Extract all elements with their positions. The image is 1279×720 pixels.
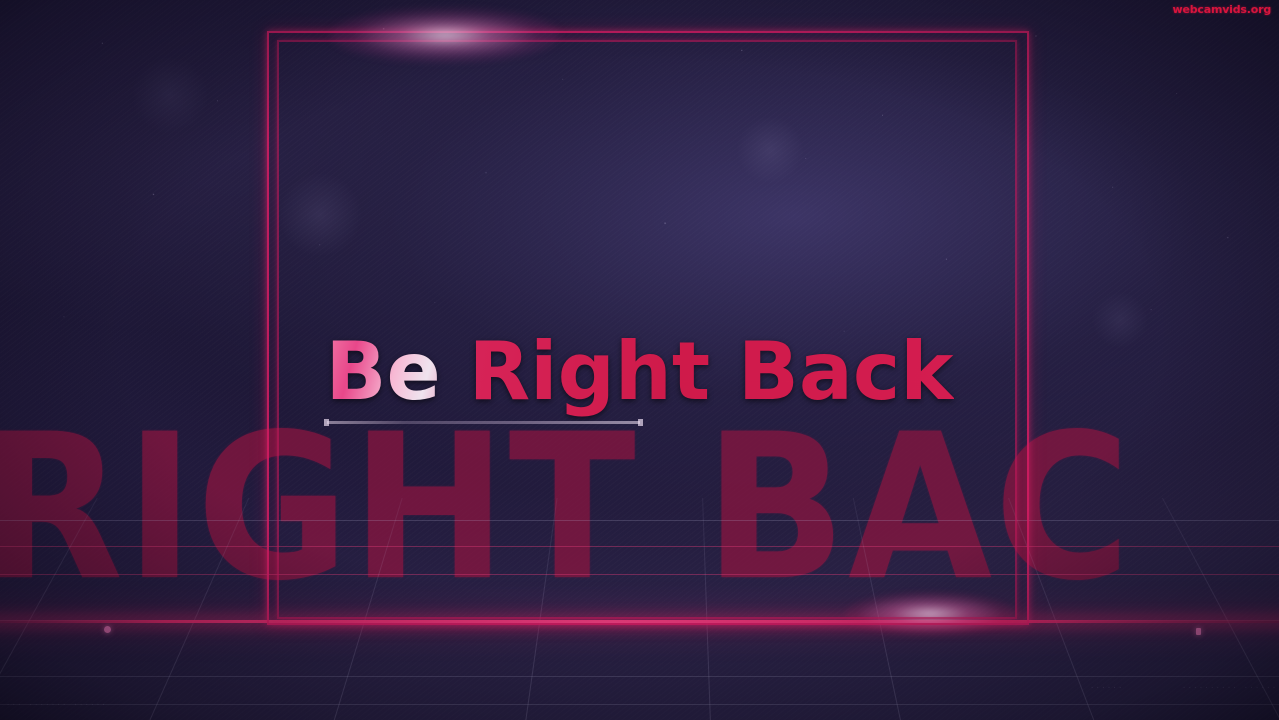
page-title: Be Right Back bbox=[325, 332, 953, 412]
grid-horizontal-line bbox=[0, 546, 1279, 547]
title-block: Be Right Back bbox=[0, 332, 1279, 412]
diagonal-scanline-texture bbox=[0, 0, 1279, 720]
nebula-layer bbox=[0, 0, 1279, 720]
grid-horizontal-line bbox=[0, 620, 1279, 621]
frame-top-flare bbox=[330, 8, 560, 62]
perspective-grid-floor bbox=[0, 498, 1279, 720]
horizon-line bbox=[0, 620, 1279, 623]
grid-diagonal-line bbox=[129, 498, 276, 720]
starfield-layer bbox=[0, 0, 1279, 720]
grid-diagonal-line bbox=[315, 498, 421, 720]
grid-diagonal-line bbox=[515, 498, 566, 720]
grid-horizontal-line bbox=[0, 574, 1279, 575]
background-word: RIGHT BAC bbox=[0, 408, 1279, 609]
grid-diagonal-line bbox=[985, 498, 1115, 720]
stream-overlay-canvas: RIGHT BAC Be Right Back ··· ······· ····… bbox=[0, 0, 1279, 720]
neon-frame-inner bbox=[277, 40, 1017, 619]
grid-diagonal-line bbox=[1130, 498, 1279, 720]
hud-microtext-left: ··· ······· ······ bbox=[6, 701, 107, 709]
grid-horizontal-line bbox=[0, 676, 1279, 677]
frame-glint-right bbox=[1196, 628, 1201, 635]
hud-microtext-right-a: ······ bbox=[1090, 684, 1124, 692]
grid-diagonal-line bbox=[1275, 498, 1279, 720]
title-segment-right-back: Right Back bbox=[441, 325, 954, 418]
grid-diagonal-line bbox=[840, 498, 916, 720]
title-segment-be: Be bbox=[325, 325, 440, 418]
neon-frame-outer bbox=[267, 31, 1029, 625]
hud-microtext-right-b: ·········· ······· ···· bbox=[1182, 684, 1279, 692]
vignette-overlay bbox=[0, 0, 1279, 720]
grid-diagonal-line bbox=[0, 498, 131, 720]
grid-horizontal-line bbox=[0, 520, 1279, 521]
site-watermark: webcamvids.org bbox=[1173, 3, 1272, 16]
grid-diagonal-line bbox=[700, 498, 714, 720]
grid-horizontal-line bbox=[0, 704, 1279, 705]
horizon-flare bbox=[845, 592, 1015, 636]
frame-glint-left bbox=[104, 626, 111, 633]
title-underline-bar bbox=[327, 421, 640, 424]
